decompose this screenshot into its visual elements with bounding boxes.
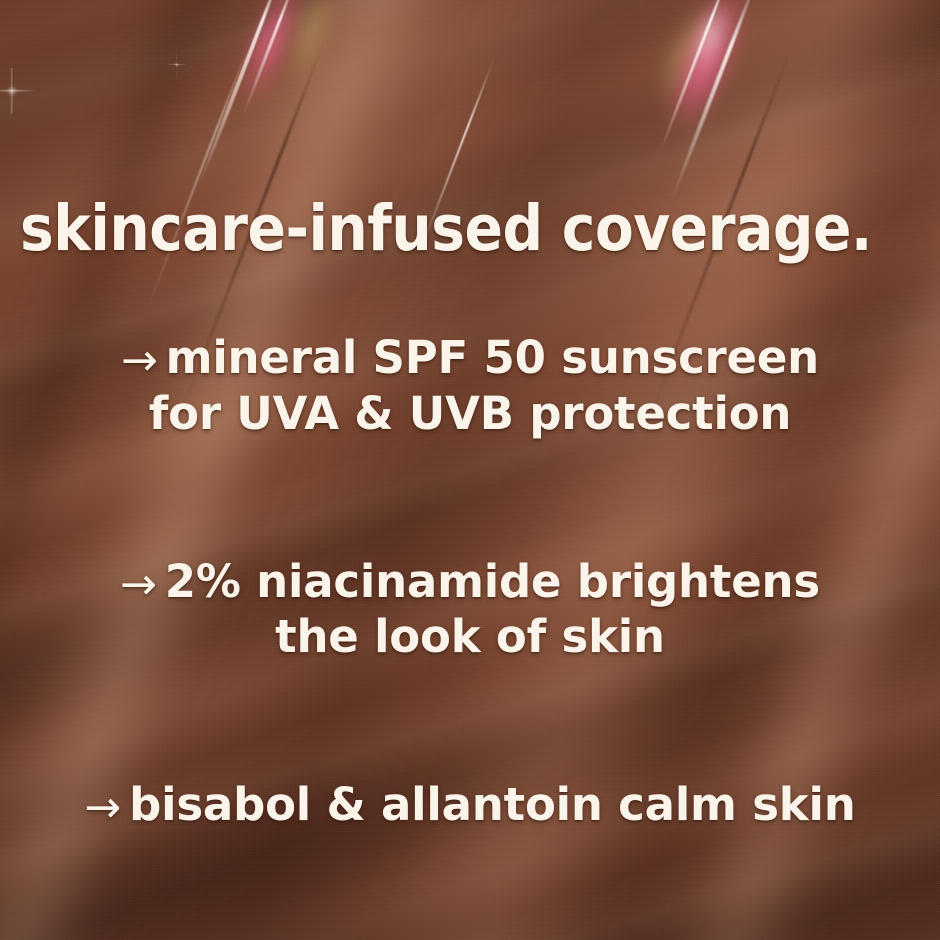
benefit-text: bisabol & allantoin calm skin (129, 778, 855, 831)
page-title: skincare-infused coverage. (20, 197, 932, 260)
arrow-right-icon: → (120, 563, 157, 607)
benefit-line: →mineral SPF 50 sunscreen (0, 330, 940, 386)
benefit-item-niacinamide: →2% niacinamide brightens the look of sk… (0, 554, 940, 666)
benefit-list: →mineral SPF 50 sunscreen for UVA & UVB … (0, 330, 940, 833)
benefit-item-soothing: →bisabol & allantoin calm skin (0, 777, 940, 833)
arrow-right-icon: → (84, 786, 121, 830)
content-layer: skincare-infused coverage. →mineral SPF … (0, 0, 940, 940)
marketing-card: skincare-infused coverage. →mineral SPF … (0, 0, 940, 940)
arrow-right-icon: → (121, 339, 158, 383)
benefit-text: 2% niacinamide brightens (165, 555, 820, 608)
benefit-text: for UVA & UVB protection (0, 386, 940, 442)
benefit-line: →2% niacinamide brightens (0, 554, 940, 610)
benefit-text: mineral SPF 50 sunscreen (166, 331, 819, 384)
benefit-line: →bisabol & allantoin calm skin (0, 777, 940, 833)
benefit-item-spf: →mineral SPF 50 sunscreen for UVA & UVB … (0, 330, 940, 442)
benefit-text: the look of skin (0, 609, 940, 665)
